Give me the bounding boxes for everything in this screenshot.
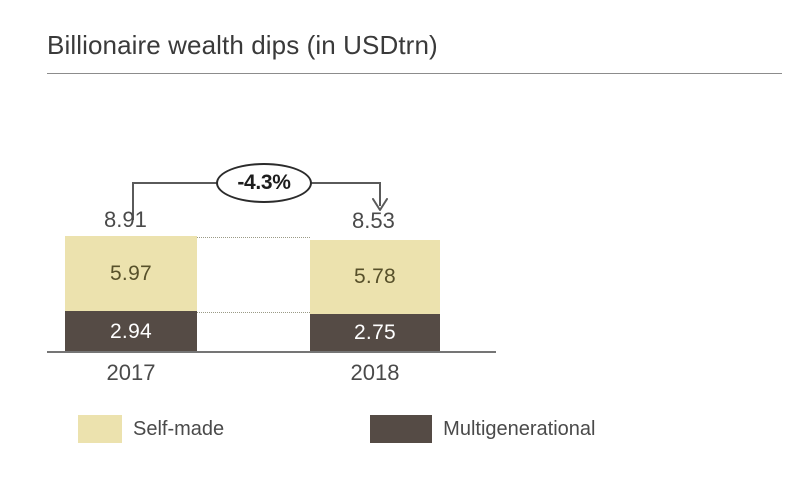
total-label-2017: 8.91	[104, 207, 147, 233]
legend-swatch-multigenerational	[370, 415, 432, 443]
chart-plot-area: -4.3% 8.91 8.53 5.97 2.94 5.78 2.75 2017…	[0, 0, 800, 486]
bar-2018-self-made[interactable]: 5.78	[310, 240, 440, 314]
chart-legend: Self-made Multigenerational	[78, 415, 595, 443]
x-axis-label-2018: 2018	[310, 360, 440, 386]
delta-value: -4.3%	[237, 171, 290, 195]
bar-2018-multigenerational[interactable]: 2.75	[310, 314, 440, 352]
legend-label-multigenerational: Multigenerational	[443, 418, 595, 441]
delta-badge: -4.3%	[216, 163, 312, 203]
bar-2017-self-made[interactable]: 5.97	[65, 236, 197, 311]
bar-value-2017-multigenerational: 2.94	[110, 320, 152, 344]
connector-dotted-top	[197, 237, 310, 238]
legend-item-self-made[interactable]: Self-made	[78, 415, 224, 443]
total-label-2018: 8.53	[352, 208, 395, 234]
bar-value-2018-self-made: 5.78	[354, 265, 396, 289]
connector-dotted-split	[197, 312, 310, 313]
bar-2017-multigenerational[interactable]: 2.94	[65, 311, 197, 352]
x-axis-baseline	[47, 351, 496, 353]
bar-value-2017-self-made: 5.97	[110, 262, 152, 286]
legend-label-self-made: Self-made	[133, 418, 224, 441]
x-axis-label-2017: 2017	[65, 360, 197, 386]
bar-value-2018-multigenerational: 2.75	[354, 321, 396, 345]
legend-swatch-self-made	[78, 415, 122, 443]
legend-item-multigenerational[interactable]: Multigenerational	[370, 415, 595, 443]
